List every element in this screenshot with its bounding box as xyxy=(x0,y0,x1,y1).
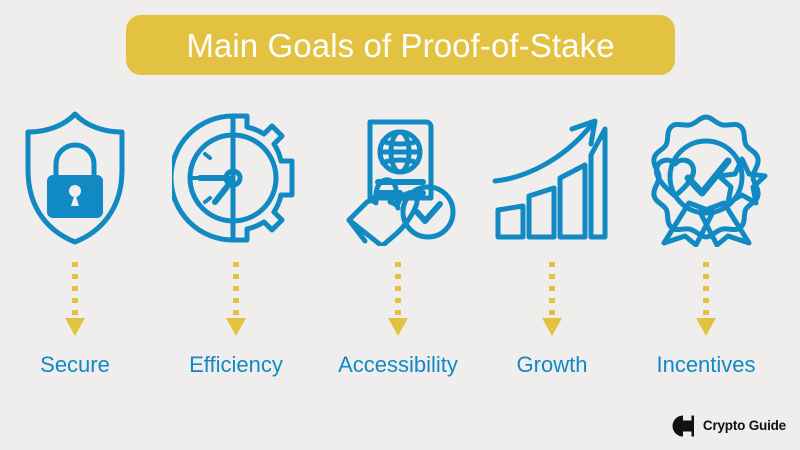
shield-lock-icon xyxy=(0,100,150,255)
brand-name: Crypto Guide xyxy=(703,419,786,433)
hand-passport-check-icon xyxy=(323,100,473,255)
goal-item-accessibility: Accessibility xyxy=(323,100,473,400)
dotted-down-arrow-icon xyxy=(323,260,473,345)
bar-chart-up-arrow-icon xyxy=(477,100,627,255)
c-logo-icon xyxy=(671,414,695,438)
dotted-down-arrow-icon xyxy=(161,260,311,345)
goal-label: Incentives xyxy=(631,353,781,377)
page-title: Main Goals of Proof-of-Stake xyxy=(186,29,614,62)
goal-label: Secure xyxy=(0,353,150,377)
goal-item-growth: Growth xyxy=(477,100,627,400)
dotted-down-arrow-icon xyxy=(631,260,781,345)
goal-label: Accessibility xyxy=(323,353,473,377)
dotted-down-arrow-icon xyxy=(477,260,627,345)
title-banner: Main Goals of Proof-of-Stake xyxy=(126,15,675,75)
goal-label: Growth xyxy=(477,353,627,377)
brand-logo: Crypto Guide xyxy=(671,414,786,438)
award-badge-check-icon xyxy=(631,100,781,255)
goal-item-efficiency: Efficiency xyxy=(161,100,311,400)
dotted-down-arrow-icon xyxy=(0,260,150,345)
goal-label: Efficiency xyxy=(161,353,311,377)
goal-item-secure: Secure xyxy=(0,100,150,400)
goal-item-incentives: Incentives xyxy=(631,100,781,400)
goals-row: Secure xyxy=(0,100,800,400)
clock-gear-icon xyxy=(161,100,311,255)
